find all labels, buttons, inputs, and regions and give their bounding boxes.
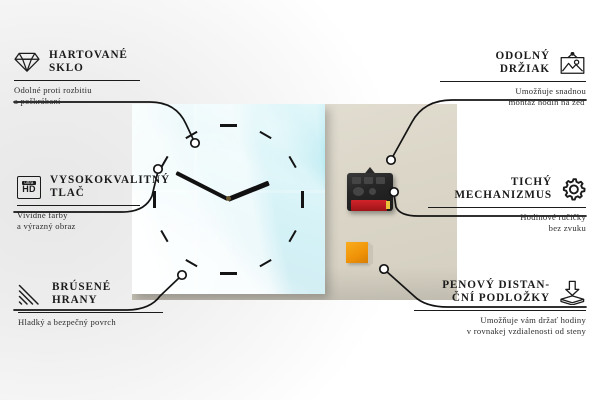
feature-foam-spacers: PENOVÝ DISTAN- ČNÍ PODLOŽKY Umožňuje vám… bbox=[414, 279, 586, 336]
feature-rule-edges bbox=[18, 312, 163, 313]
mechanism-battery bbox=[351, 200, 387, 211]
mechanism-dial bbox=[353, 187, 364, 196]
feature-desc-hanger: Umožňuje snadnou montáž hodin na zeď bbox=[440, 86, 586, 107]
hatched-edge-icon bbox=[18, 284, 43, 305]
clock-center-pin bbox=[226, 196, 231, 201]
clock-tick bbox=[220, 124, 237, 127]
feature-high-quality-print: ultra HD VYSOKOKVALITNÝ TLAČ Vividné far… bbox=[17, 174, 159, 231]
foam-distance-pad bbox=[346, 242, 368, 263]
mechanism-body bbox=[347, 173, 393, 211]
feature-title-tempered-glass: HARTOVANÉ SKLO bbox=[49, 49, 128, 76]
mechanism-slot-b bbox=[364, 177, 373, 184]
feature-desc-edges: Hladký a bezpečný povrch bbox=[18, 317, 170, 328]
feature-title-foam: PENOVÝ DISTAN- ČNÍ PODLOŽKY bbox=[442, 279, 550, 306]
feature-title-mechanism: TICHÝ MECHANIZMUS bbox=[454, 176, 552, 203]
feature-rule-mechanism bbox=[428, 207, 586, 208]
press-pad-icon bbox=[559, 280, 586, 305]
feature-rule-hanger bbox=[440, 81, 586, 82]
feature-desc-tempered-glass: Odolné proti rozbitiu a poškrábaní bbox=[14, 85, 154, 106]
feature-rule-tempered-glass bbox=[14, 80, 140, 81]
ultra-hd-icon: ultra HD bbox=[17, 176, 41, 199]
clock-mechanism bbox=[347, 167, 393, 211]
feature-rule-foam bbox=[414, 310, 586, 311]
feature-silent-mechanism: TICHÝ MECHANIZMUS Hodinové ručičky bez z… bbox=[428, 176, 586, 233]
feature-title-hanger: ODOLNÝ DRŽIAK bbox=[495, 50, 550, 77]
diamond-icon bbox=[14, 51, 40, 73]
feature-desc-print: Vividné farby a výrazný obraz bbox=[17, 210, 159, 231]
clock-tick bbox=[301, 191, 304, 208]
feature-desc-mechanism: Hodinové ručičky bez zvuku bbox=[428, 212, 586, 233]
infographic-canvas: HARTOVANÉ SKLO Odolné proti rozbitiu a p… bbox=[0, 0, 600, 400]
feature-title-print: VYSOKOKVALITNÝ TLAČ bbox=[50, 174, 170, 201]
mechanism-slot-c bbox=[376, 177, 385, 184]
mechanism-knob bbox=[369, 188, 376, 195]
feature-tempered-glass: HARTOVANÉ SKLO Odolné proti rozbitiu a p… bbox=[14, 49, 154, 106]
feature-title-edges: BRÚSENÉ HRANY bbox=[52, 281, 111, 308]
picture-hanger-icon bbox=[559, 52, 586, 75]
mechanism-slot-a bbox=[352, 177, 361, 184]
clock-tick bbox=[220, 272, 237, 275]
feature-rule-print bbox=[17, 205, 140, 206]
gear-icon bbox=[561, 177, 586, 201]
feature-ground-edges: BRÚSENÉ HRANY Hladký a bezpečný povrch bbox=[18, 281, 170, 328]
feature-desc-foam: Umožňuje vám držať hodiny v rovnakej vzd… bbox=[414, 315, 586, 336]
product-photo bbox=[132, 104, 457, 300]
feature-durable-hanger: ODOLNÝ DRŽIAK Umožňuje snadnou montáž ho… bbox=[440, 50, 586, 107]
